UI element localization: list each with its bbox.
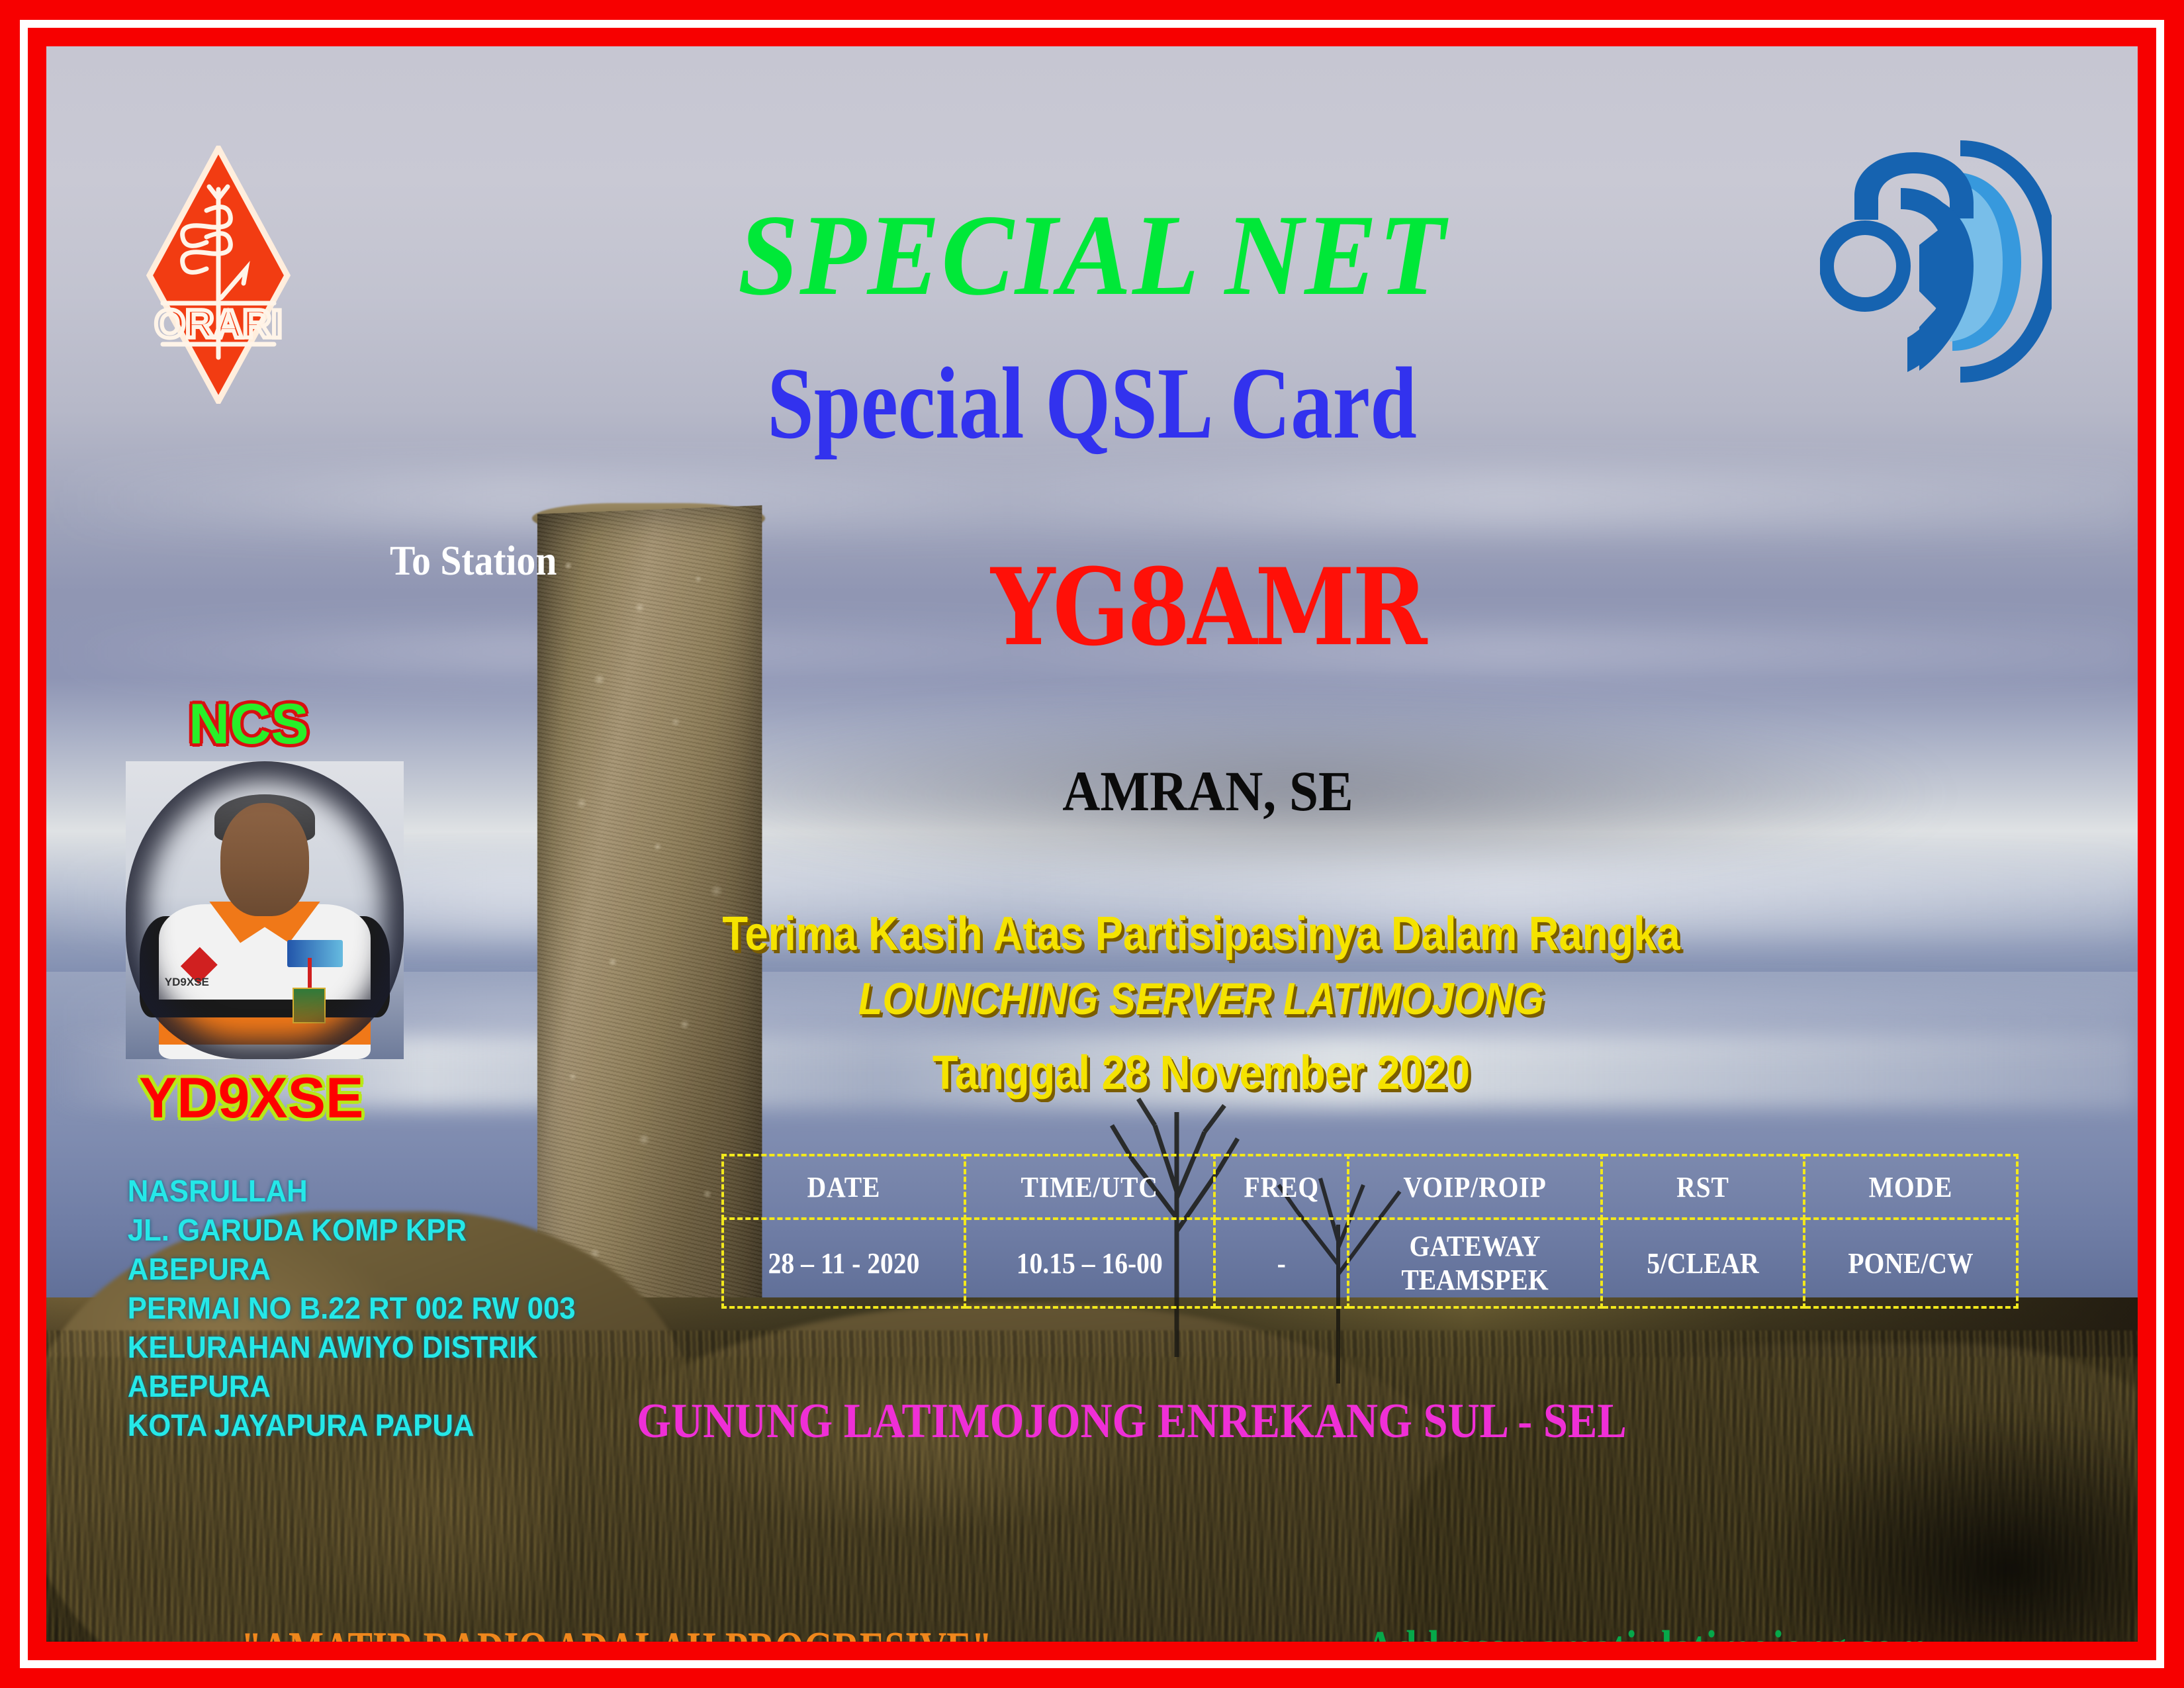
cell-date: 28 – 11 - 2020 [735,1219,952,1307]
cell-time: 10.15 – 16-00 [978,1219,1202,1307]
table-header-date: DATE [735,1155,952,1219]
table-header-freq: FREQ [1221,1155,1342,1219]
cell-mode: PONE/CW [1815,1219,2007,1307]
address-line: JL. GARUDA KOMP KPR [128,1211,576,1250]
table-header-voip: VOIP/ROIP [1361,1155,1589,1219]
station-callsign: YG8AMR [246,545,2138,669]
qso-table: DATE TIME/UTC FREQ VOIP/ROIP RST MODE 28… [721,1154,2019,1309]
event-date-line: Tanggal 28 November 2020 [281,1046,2122,1100]
page-subtitle: Special QSL Card [234,344,1949,463]
event-line: LOUNCHING SERVER LATIMOJONG [281,973,2122,1025]
table-header-mode: MODE [1815,1155,2007,1219]
table-header-time: TIME/UTC [978,1155,1202,1219]
address-line: PERMAI NO B.22 RT 002 RW 003 [128,1289,576,1328]
location-line: GUNUNG LATIMOJONG ENREKANG SUL - SEL [191,1393,2073,1450]
cell-rst: 5/CLEAR [1612,1219,1794,1307]
thanks-line: Terima Kasih Atas Partisipasinya Dalam R… [281,907,2122,961]
table-row: 28 – 11 - 2020 10.15 – 16-00 - GATEWAY T… [723,1219,2017,1307]
card-white-frame: ORARI SPECIAL NET Special QSL Card To St… [20,20,2164,1668]
ncs-label: NCS [189,692,309,757]
table-header-row: DATE TIME/UTC FREQ VOIP/ROIP RST MODE [723,1155,2017,1219]
table-header-rst: RST [1612,1155,1794,1219]
operator-name: AMRAN, SE [246,758,2138,824]
page-title: SPECIAL NET [109,189,2075,322]
web-address: Address : amatir.latimojong.com [1365,1620,1927,1642]
address-line: NASRULLAH [128,1172,576,1211]
cloud-band [46,470,2138,530]
cell-voip: GATEWAY TEAMSPEK [1361,1219,1589,1307]
card-red-inner-frame: ORARI SPECIAL NET Special QSL Card To St… [28,28,2156,1660]
address-line: ABEPURA [128,1250,576,1289]
qsl-card: ORARI SPECIAL NET Special QSL Card To St… [0,0,2184,1688]
cell-freq: - [1221,1219,1342,1307]
motto-text: "AMATIR RADIO ADALAH PROGRESIVE" [241,1622,992,1642]
card-background-photo: ORARI SPECIAL NET Special QSL Card To St… [46,46,2138,1642]
address-line: KELURAHAN AWIYO DISTRIK [128,1328,576,1367]
